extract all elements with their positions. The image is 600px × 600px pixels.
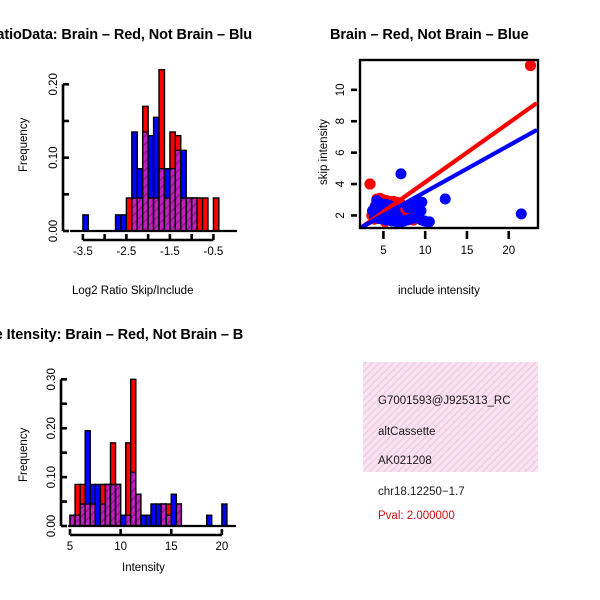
panel-ratio-histogram: RatioData: Brain – Red, Not Brain – Blu … — [0, 0, 300, 300]
x-tick-label: -3.5 — [73, 246, 93, 258]
histogram-bar — [141, 515, 146, 526]
info-line-locus: chr18.12250−1.7 — [378, 486, 465, 498]
scatter-point-not-brain — [516, 208, 527, 219]
scatter-point-not-brain — [396, 168, 407, 179]
histogram-bar-overlap — [132, 198, 137, 231]
histogram-bar-overlap — [126, 515, 131, 526]
scatter-point-brain — [525, 60, 536, 71]
x-tick-label: -2.5 — [116, 246, 136, 258]
info-line-event-type: altCassette — [378, 426, 436, 438]
gene-intensity-plot: 0.000.100.200.305101520 — [0, 300, 300, 600]
histogram-bar — [207, 515, 212, 526]
x-tick-label: -0.5 — [204, 246, 224, 258]
histogram-bar-overlap — [70, 515, 75, 526]
scatter-point-brain — [364, 178, 375, 189]
histogram-bar — [222, 504, 227, 526]
histogram-bar-overlap — [136, 494, 141, 526]
histogram-bar-overlap — [131, 472, 136, 526]
histogram-bar — [126, 198, 131, 231]
histogram-bar — [146, 515, 151, 526]
y-tick-label: 0.20 — [46, 417, 58, 439]
fit-line-not-brain — [362, 131, 536, 228]
ratio-histogram-plot: 0.000.100.20-3.5-2.5-1.5-0.5 — [0, 0, 300, 300]
histogram-bar-overlap — [85, 504, 90, 526]
histogram-bar-overlap — [176, 504, 181, 526]
histogram-bar — [95, 484, 100, 526]
x-tick-label: 10 — [114, 541, 127, 553]
x-tick-label: 20 — [502, 245, 515, 257]
x-tick-label: -1.5 — [160, 246, 180, 258]
histogram-bar — [171, 494, 176, 526]
info-line-probe-id: G7001593@J925313_RC — [378, 395, 511, 407]
histogram-bar-overlap — [111, 484, 116, 526]
histogram-bar — [116, 215, 121, 231]
histogram-bar-overlap — [116, 484, 121, 526]
x-tick-label: 5 — [67, 541, 73, 553]
y-tick-label: 0.00 — [46, 515, 58, 537]
info-text-lines: G7001593@J925313_RCaltCassetteAK021208ch… — [300, 300, 600, 600]
histogram-bar — [126, 443, 131, 526]
scatter-inner — [362, 60, 536, 227]
histogram-bar-overlap — [80, 504, 85, 526]
y-tick-label: 10 — [335, 83, 347, 96]
histogram-bar-overlap — [137, 198, 142, 231]
y-tick-label: 0.20 — [48, 73, 60, 95]
x-tick-label: 15 — [165, 541, 178, 553]
scatter-plot: 2468105101520 — [300, 0, 600, 300]
histogram-bar-overlap — [90, 504, 95, 526]
histogram-bar-overlap — [186, 198, 191, 231]
y-tick-label: 0.00 — [48, 220, 60, 242]
histogram-bar — [121, 215, 126, 231]
scatter-point-not-brain — [424, 216, 435, 227]
histogram-bar — [203, 198, 208, 231]
panel-gene-intensity-histogram: ne Itensity: Brain – Red, Not Brain – B … — [0, 300, 300, 600]
info-line-pvalue: Pval: 2.000000 — [378, 510, 455, 522]
y-tick-label: 0.30 — [46, 368, 58, 390]
histogram-bar — [83, 215, 88, 231]
fit-line-brain — [362, 104, 536, 227]
panel-intensity-scatter: Brain – Red, Not Brain – Blue skip inten… — [300, 0, 600, 300]
histogram-bar-overlap — [154, 198, 159, 231]
histogram-bar — [197, 198, 202, 231]
histogram-bar — [121, 515, 126, 526]
x-tick-label: 15 — [461, 245, 474, 257]
histogram-bar-overlap — [161, 504, 166, 526]
x-tick-label: 20 — [215, 541, 228, 553]
histogram-bar-overlap — [192, 198, 197, 231]
histogram-bar-overlap — [100, 504, 105, 526]
histogram-bar-overlap — [148, 198, 153, 231]
y-tick-label: 8 — [335, 118, 347, 124]
histogram-bar-overlap — [166, 515, 171, 526]
histogram-bar-overlap — [105, 484, 110, 526]
y-tick-label: 0.10 — [46, 466, 58, 488]
histogram-bar-overlap — [175, 150, 180, 231]
histogram-bar-overlap — [143, 132, 148, 231]
histogram-bar-overlap — [181, 198, 186, 231]
histogram-bar — [213, 198, 218, 231]
histogram-bar-overlap — [164, 198, 169, 231]
histogram-bar-overlap — [170, 169, 175, 231]
y-tick-label: 2 — [335, 212, 347, 218]
y-tick-label: 0.10 — [48, 146, 60, 168]
panel-info: G7001593@J925313_RCaltCassetteAK021208ch… — [300, 300, 600, 600]
x-tick-label: 10 — [419, 245, 432, 257]
histogram-bar — [151, 504, 156, 526]
histogram-bar-overlap — [75, 515, 80, 526]
histogram-bar-overlap — [159, 169, 164, 231]
info-line-accession: AK021208 — [378, 455, 432, 467]
histogram-bar — [156, 504, 161, 526]
y-tick-label: 6 — [335, 149, 347, 155]
scatter-point-not-brain — [440, 194, 451, 205]
x-tick-label: 5 — [380, 245, 386, 257]
y-tick-label: 4 — [335, 180, 347, 187]
